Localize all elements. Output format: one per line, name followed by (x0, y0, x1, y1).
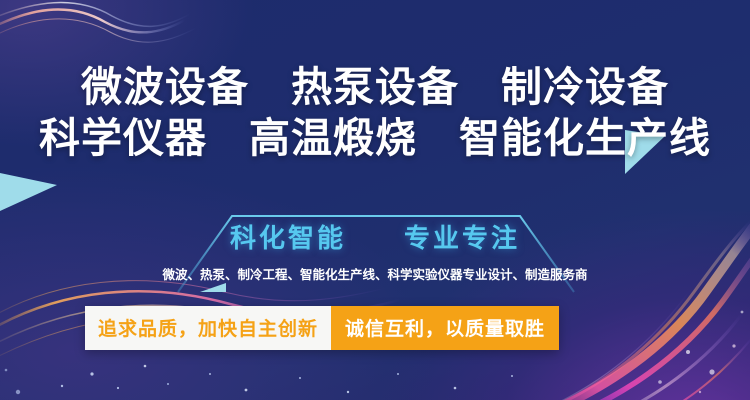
headline-line-1: 微波设备 热泵设备 制冷设备 (0, 62, 750, 113)
slogan-group: 追求品质，加快自主创新 诚信互利，以质量取胜 (85, 306, 559, 350)
headline-line-2: 科学仪器 高温煅烧 智能化生产线 (0, 113, 750, 164)
promo-banner: 微波设备 热泵设备 制冷设备 科学仪器 高温煅烧 智能化生产线 科化智能 专业专… (0, 0, 750, 400)
description-line: 微波、热泵、制冷工程、智能化生产线、科学实验仪器专业设计、制造服务商 (0, 264, 750, 283)
triangle-right-icon (0, 173, 57, 211)
subtitle-cyan: 科化智能 专业专注 (0, 218, 750, 255)
page-title: 微波设备 热泵设备 制冷设备 科学仪器 高温煅烧 智能化生产线 (0, 62, 750, 164)
slogan-right: 诚信互利，以质量取胜 (331, 306, 559, 350)
triangle-accent-icon (200, 283, 226, 292)
slogan-left: 追求品质，加快自主创新 (85, 306, 331, 350)
